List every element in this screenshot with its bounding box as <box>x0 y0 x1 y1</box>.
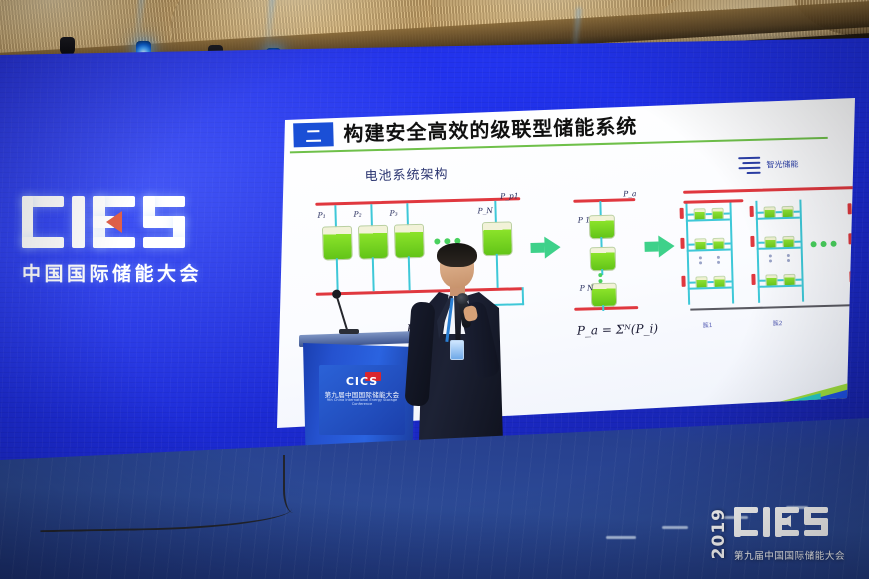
series-top-label: P_a <box>623 189 637 198</box>
cluster-terminal <box>680 208 684 219</box>
watermark-subtitle: 第九届中国国际储能大会 <box>734 548 845 562</box>
battery-cell <box>590 247 617 272</box>
cell-power-label: P₂ <box>353 210 361 219</box>
triangle-arrow-icon <box>782 515 791 527</box>
stage-light-off <box>60 37 75 56</box>
cell-power-label: P_N <box>477 206 493 215</box>
ellipsis-dots-vertical <box>769 254 772 262</box>
cluster-terminal <box>680 238 684 249</box>
dot <box>821 241 827 247</box>
ellipsis-dots-vertical <box>717 256 720 264</box>
logo-bar <box>738 166 760 169</box>
cluster-terminal <box>751 274 755 285</box>
series-label-1: P 1 <box>578 215 590 224</box>
module-wire <box>688 287 732 290</box>
dot <box>699 261 702 264</box>
backdrop-cies-logo: 中国国际储能大会 <box>22 196 254 292</box>
arrow-head <box>544 236 561 258</box>
corporate-logo: 智光储能 <box>738 151 813 177</box>
bus-bar-top <box>315 197 520 206</box>
slide-section-badge: 二 <box>293 122 334 147</box>
ellipsis-dots <box>811 241 837 248</box>
cell-power-label: P₁ <box>317 210 325 219</box>
cell-wire-top <box>370 204 373 226</box>
speaker-hair <box>437 243 477 267</box>
logo-bar <box>738 156 760 159</box>
cies-wordmark <box>22 196 185 254</box>
cluster-bus-top <box>683 184 869 193</box>
dot <box>811 241 817 247</box>
logo-bar <box>747 171 761 174</box>
logo-stroke <box>22 237 64 248</box>
return-wire-v <box>522 287 524 305</box>
arrow-stem <box>530 243 544 253</box>
logo-stroke <box>93 237 135 248</box>
series-wire <box>602 305 604 311</box>
cluster-bus-link <box>683 199 743 204</box>
cell-wire-bottom <box>336 258 339 292</box>
cluster-terminal <box>681 276 685 287</box>
podium-cable <box>283 455 309 513</box>
logo-stroke <box>143 237 185 248</box>
ellipsis-dots-vertical <box>699 256 702 264</box>
bus-label: P_p1 <box>500 191 519 200</box>
cluster-label: 簇2 <box>773 318 783 327</box>
dot <box>717 261 720 264</box>
battery-cell <box>322 226 353 261</box>
dot <box>717 256 720 259</box>
dot <box>787 259 790 262</box>
cell-power-label: P₃ <box>389 209 397 218</box>
logo-stroke <box>775 530 799 537</box>
cluster-terminal <box>750 206 754 217</box>
ellipsis-dots-vertical <box>787 254 790 262</box>
arrow-stem <box>644 241 658 251</box>
dot <box>787 254 790 257</box>
battery-cell <box>589 215 616 240</box>
dot <box>769 259 772 262</box>
cies-logo-subtitle: 中国国际储能大会 <box>22 259 254 286</box>
triangle-arrow-icon <box>106 211 122 233</box>
logo-stroke <box>804 530 828 537</box>
podium-en-text: 9th China International Energy Storage C… <box>321 398 403 406</box>
corporate-logo-text: 智光储能 <box>766 158 798 170</box>
cell-wire-top <box>494 201 497 223</box>
conference-stage-photo: 中国国际储能大会 二 构建安全高效的级联型储能系统 电池系统架构 智光储能 P₁… <box>0 0 869 579</box>
microphone-base <box>339 329 359 334</box>
series-label-n: P N <box>580 283 594 292</box>
slide-subtitle: 电池系统架构 <box>364 163 448 184</box>
dot <box>699 256 702 259</box>
logo-bars-icon <box>738 156 762 174</box>
logo-stroke <box>763 507 771 537</box>
formula-sum: P_a = Σᴺ(P_i) <box>577 322 659 338</box>
cluster-terminal <box>847 203 851 214</box>
series-bus-top <box>573 198 635 203</box>
cell-wire-top <box>406 203 409 225</box>
module-wire <box>687 249 731 252</box>
battery-cell <box>358 225 389 260</box>
podium-logo-text: CICS <box>323 375 401 388</box>
dot <box>769 254 772 257</box>
module-wire <box>757 247 801 250</box>
module-wire <box>758 285 802 288</box>
logo-stroke <box>734 530 758 537</box>
dot <box>830 241 836 247</box>
watermark-year: 2019 <box>709 508 729 559</box>
dot <box>598 273 602 277</box>
logo-bar <box>742 161 760 164</box>
cell-wire-top <box>334 205 337 227</box>
battery-cell <box>591 283 618 308</box>
dot <box>434 238 440 244</box>
event-watermark: 2019 第九届中国国际储能大会 <box>709 501 859 567</box>
cluster-return-bus <box>690 302 869 310</box>
watermark-wordmark <box>734 507 828 545</box>
logo-stroke <box>72 196 85 248</box>
watermark-logo-group: 第九届中国国际储能大会 <box>734 507 845 562</box>
module-wire <box>756 217 800 220</box>
floor-glint <box>606 536 636 539</box>
module-wire <box>686 219 730 222</box>
floor-glint <box>662 526 688 529</box>
cluster-terminal <box>750 236 754 247</box>
speaker-badge <box>450 340 464 360</box>
cell-wire-bottom <box>372 257 375 291</box>
cluster-label: 簇1 <box>703 320 713 329</box>
arrow-head <box>658 235 675 257</box>
